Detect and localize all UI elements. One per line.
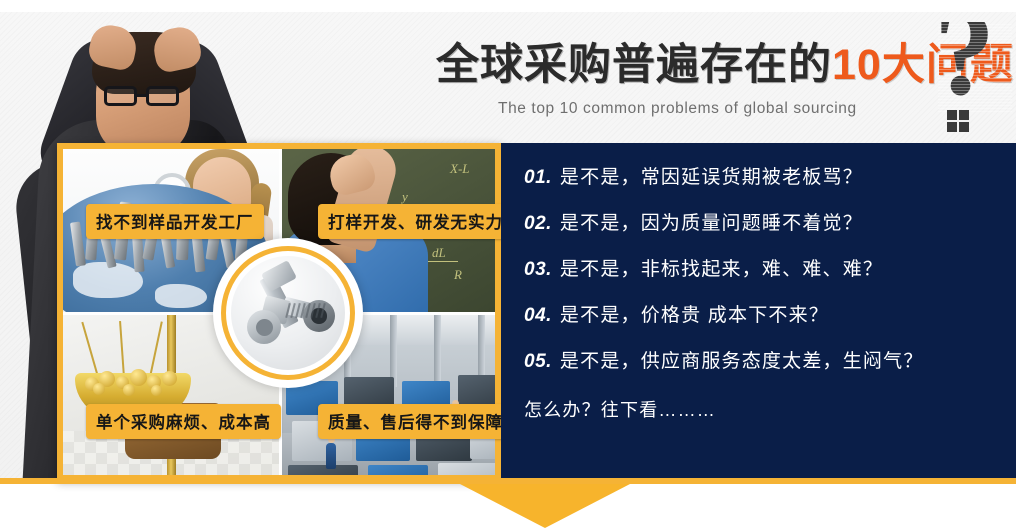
top-white-band: [0, 0, 1016, 12]
bottom-divider-band: [0, 478, 1016, 484]
footer-note: 怎么办？往下看………: [524, 396, 716, 422]
problems-panel: 01.是不是，常因延误货期被老板骂？ 02.是不是，因为质量问题睡不着觉？ 03…: [501, 143, 1016, 481]
problem-item-1: 01.是不是，常因延误货期被老板骂？: [524, 162, 863, 189]
question-mark-icon: ?: [938, 22, 1012, 114]
problem-number-2: 02.: [524, 213, 552, 235]
question-mark-dot-icon: [947, 110, 969, 132]
subtitle: The top 10 common problems of global sou…: [498, 100, 857, 118]
problem-text-4: 是不是，价格贵 成本下不来？: [560, 305, 829, 326]
problem-number-5: 05.: [524, 351, 552, 373]
problem-number-3: 03.: [524, 259, 552, 281]
caption-pill-2: 打样开发、研发无实力: [318, 204, 513, 239]
page-title: 全球采购普遍存在的10大问题: [436, 44, 956, 87]
center-bolts-circle: [213, 238, 363, 388]
problem-item-2: 02.是不是，因为质量问题睡不着觉？: [524, 208, 863, 235]
problem-item-5: 05.是不是，供应商服务态度太差，生闷气？: [524, 346, 924, 373]
caption-pill-1: 找不到样品开发工厂: [86, 204, 264, 239]
problem-number-4: 04.: [524, 305, 552, 327]
problem-text-1: 是不是，常因延误货期被老板骂？: [560, 167, 863, 188]
caption-pill-3: 单个采购麻烦、成本高: [86, 404, 281, 439]
problem-number-1: 01.: [524, 167, 552, 189]
problem-text-2: 是不是，因为质量问题睡不着觉？: [560, 213, 863, 234]
problem-text-5: 是不是，供应商服务态度太差，生闷气？: [560, 351, 924, 372]
problem-item-3: 03.是不是，非标找起来，难、难、难？: [524, 254, 883, 281]
problem-item-4: 04.是不是，价格贵 成本下不来？: [524, 300, 829, 327]
banner-root: 全球采购普遍存在的10大问题 The top 10 common problem…: [0, 0, 1016, 531]
title-main: 全球采购普遍存在的: [436, 41, 832, 89]
problem-text-3: 是不是，非标找起来，难、难、难？: [560, 259, 883, 280]
eyeglasses-icon: [104, 86, 184, 106]
caption-pill-4: 质量、售后得不到保障: [318, 404, 513, 439]
